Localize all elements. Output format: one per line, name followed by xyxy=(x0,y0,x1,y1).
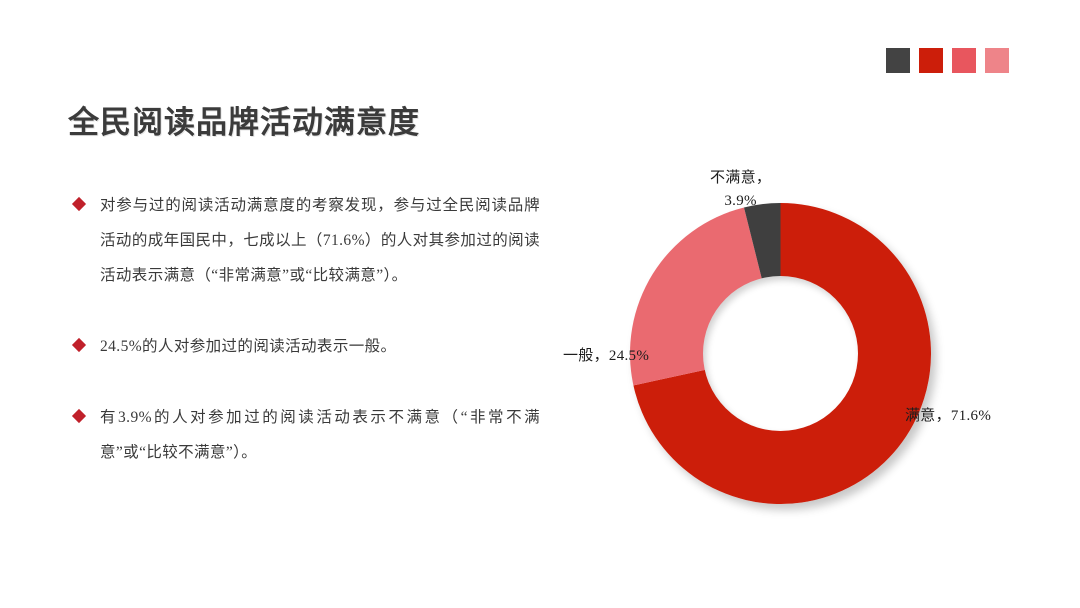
list-item-text: 有3.9%的人对参加过的阅读活动表示不满意（“非常不满意”或“比较不满意”）。 xyxy=(100,400,540,470)
chart-label-neutral: 一般，24.5% xyxy=(563,344,649,365)
list-item: 对参与过的阅读活动满意度的考察发现，参与过全民阅读品牌活动的成年国民中，七成以上… xyxy=(70,188,540,293)
swatch-dark-gray xyxy=(886,48,910,73)
page-title: 全民阅读品牌活动满意度 xyxy=(68,97,420,142)
swatch-pink xyxy=(985,48,1009,73)
color-swatch-strip xyxy=(886,48,1009,73)
swatch-coral xyxy=(952,48,976,73)
list-item: 24.5%的人对参加过的阅读活动表示一般。 xyxy=(70,329,540,364)
donut-graphic xyxy=(630,203,931,504)
donut-center-hole xyxy=(703,276,858,431)
chart-label-dissatisfied-line2: 3.9% xyxy=(710,190,771,213)
slide-canvas: 全民阅读品牌活动满意度 对参与过的阅读活动满意度的考察发现，参与过全民阅读品牌活… xyxy=(0,0,1080,608)
chart-label-dissatisfied-line1: 不满意， xyxy=(710,170,771,186)
list-item: 有3.9%的人对参加过的阅读活动表示不满意（“非常不满意”或“比较不满意”）。 xyxy=(70,400,540,470)
list-item-text: 24.5%的人对参加过的阅读活动表示一般。 xyxy=(100,329,540,364)
swatch-red xyxy=(919,48,943,73)
chart-label-dissatisfied: 不满意， 3.9% xyxy=(710,167,771,213)
list-item-text: 对参与过的阅读活动满意度的考察发现，参与过全民阅读品牌活动的成年国民中，七成以上… xyxy=(100,188,540,293)
diamond-bullet-icon xyxy=(72,409,86,423)
chart-label-satisfied: 满意，71.6% xyxy=(905,404,991,425)
diamond-bullet-icon xyxy=(72,338,86,352)
diamond-bullet-icon xyxy=(72,197,86,211)
satisfaction-donut-chart: 不满意， 3.9% 一般，24.5% 满意，71.6% xyxy=(560,155,1060,555)
bullet-list: 对参与过的阅读活动满意度的考察发现，参与过全民阅读品牌活动的成年国民中，七成以上… xyxy=(70,188,540,470)
